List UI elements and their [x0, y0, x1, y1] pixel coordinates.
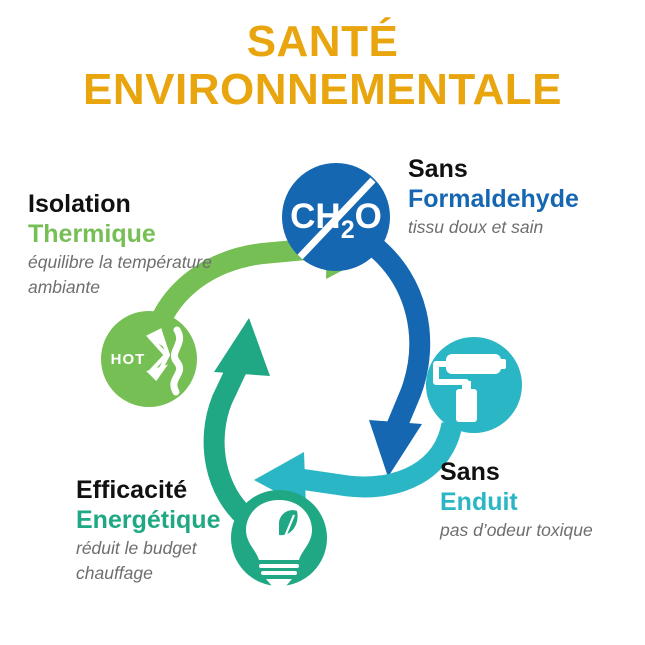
callout-isolation-sub2: ambiante	[28, 276, 212, 299]
infographic-canvas: SANTÉ ENVIRONNEMENTALE	[0, 0, 645, 645]
callout-efficacite: Efficacité Energétique réduit le budget …	[76, 476, 220, 585]
callout-isolation-line2: Thermique	[28, 220, 212, 250]
callout-formaldehyde-sub1: tissu doux et sain	[408, 216, 579, 239]
node-eco-bulb[interactable]	[231, 490, 327, 586]
callout-efficacite-sub1: réduit le budget	[76, 537, 220, 560]
callout-enduit-line1: Sans	[440, 458, 593, 488]
node-heat-barrier[interactable]: HOT	[101, 311, 197, 407]
callout-formaldehyde-line2: Formaldehyde	[408, 185, 579, 215]
callout-formaldehyde: Sans Formaldehyde tissu doux et sain	[408, 155, 579, 239]
node-paint-roller[interactable]	[426, 337, 522, 433]
callout-enduit: Sans Enduit pas d’odeur toxique	[440, 458, 593, 542]
callout-enduit-line2: Enduit	[440, 488, 593, 518]
teal-arrow-left	[214, 318, 270, 520]
callout-efficacite-line2: Energétique	[76, 506, 220, 536]
callout-formaldehyde-line1: Sans	[408, 155, 579, 185]
callout-efficacite-sub2: chauffage	[76, 562, 220, 585]
callout-isolation-line1: Isolation	[28, 190, 212, 220]
blue-arrow-right	[369, 246, 422, 477]
callout-efficacite-line1: Efficacité	[76, 476, 220, 506]
node-ch2o[interactable]: CH2O	[282, 163, 390, 271]
callout-isolation-sub1: équilibre la température	[28, 251, 212, 274]
callout-enduit-sub1: pas d’odeur toxique	[440, 519, 593, 542]
callout-isolation: Isolation Thermique équilibre la tempéra…	[28, 190, 212, 299]
heat-label: HOT	[111, 351, 146, 368]
